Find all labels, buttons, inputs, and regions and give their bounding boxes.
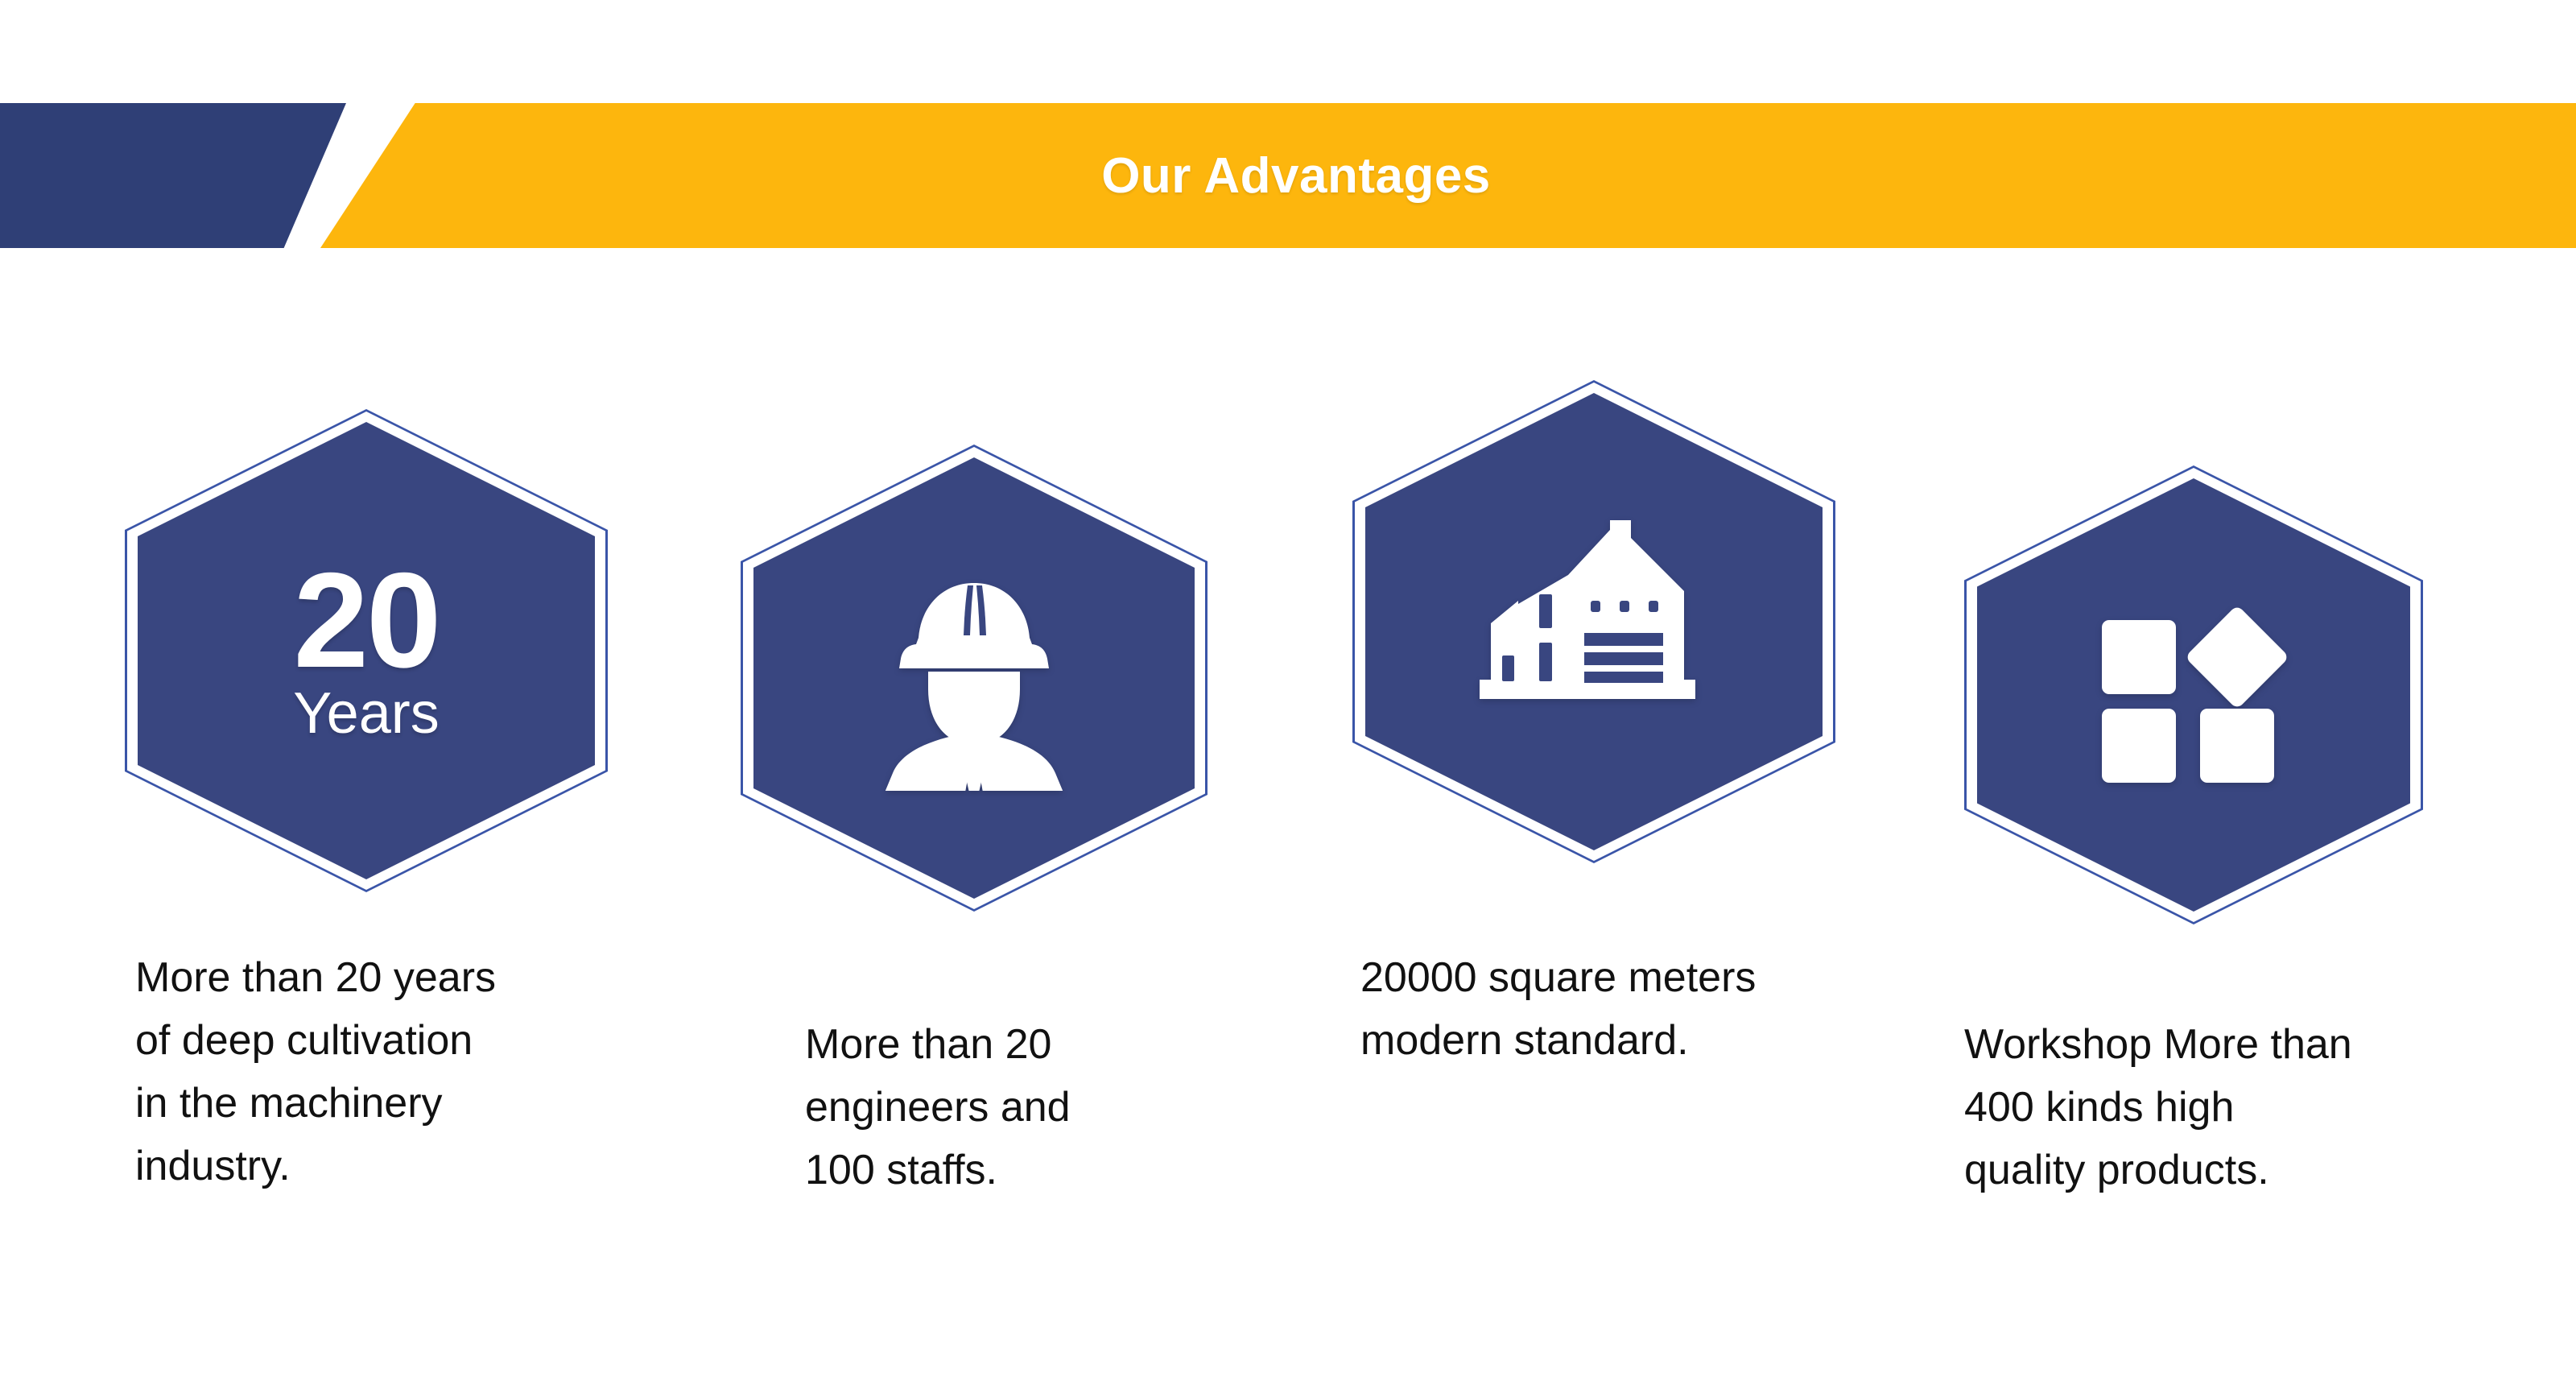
hexagon-badge-engineers	[741, 445, 1207, 912]
hexagon-badge-products	[1964, 465, 2423, 924]
advantage-caption-products: Workshop More than 400 kinds high qualit…	[1964, 1013, 2512, 1201]
years-number: 20	[294, 552, 440, 688]
advantage-caption-years: More than 20 years of deep cultivation i…	[135, 946, 650, 1197]
advantage-card-years[interactable]: 20 Years	[125, 409, 608, 892]
hexagon-badge-factory	[1352, 380, 1835, 863]
advantages-card-row: 20 Years More than 20 years of deep cult…	[0, 0, 2576, 1373]
hexagon-badge-years: 20 Years	[125, 409, 608, 892]
engineer-hardhat-icon	[857, 565, 1091, 791]
product-blocks-icon	[2097, 602, 2290, 788]
years-badge-content: 20 Years	[293, 552, 439, 742]
factory-building-icon	[1473, 520, 1715, 713]
advantage-card-factory[interactable]	[1352, 380, 1835, 863]
years-label: Years	[293, 684, 439, 742]
advantage-card-engineers[interactable]	[741, 445, 1207, 912]
advantage-caption-factory: 20000 square meters modern standard.	[1360, 946, 1924, 1072]
advantage-caption-engineers: More than 20 engineers and 100 staffs.	[805, 1013, 1256, 1201]
advantage-card-products[interactable]	[1964, 465, 2423, 924]
